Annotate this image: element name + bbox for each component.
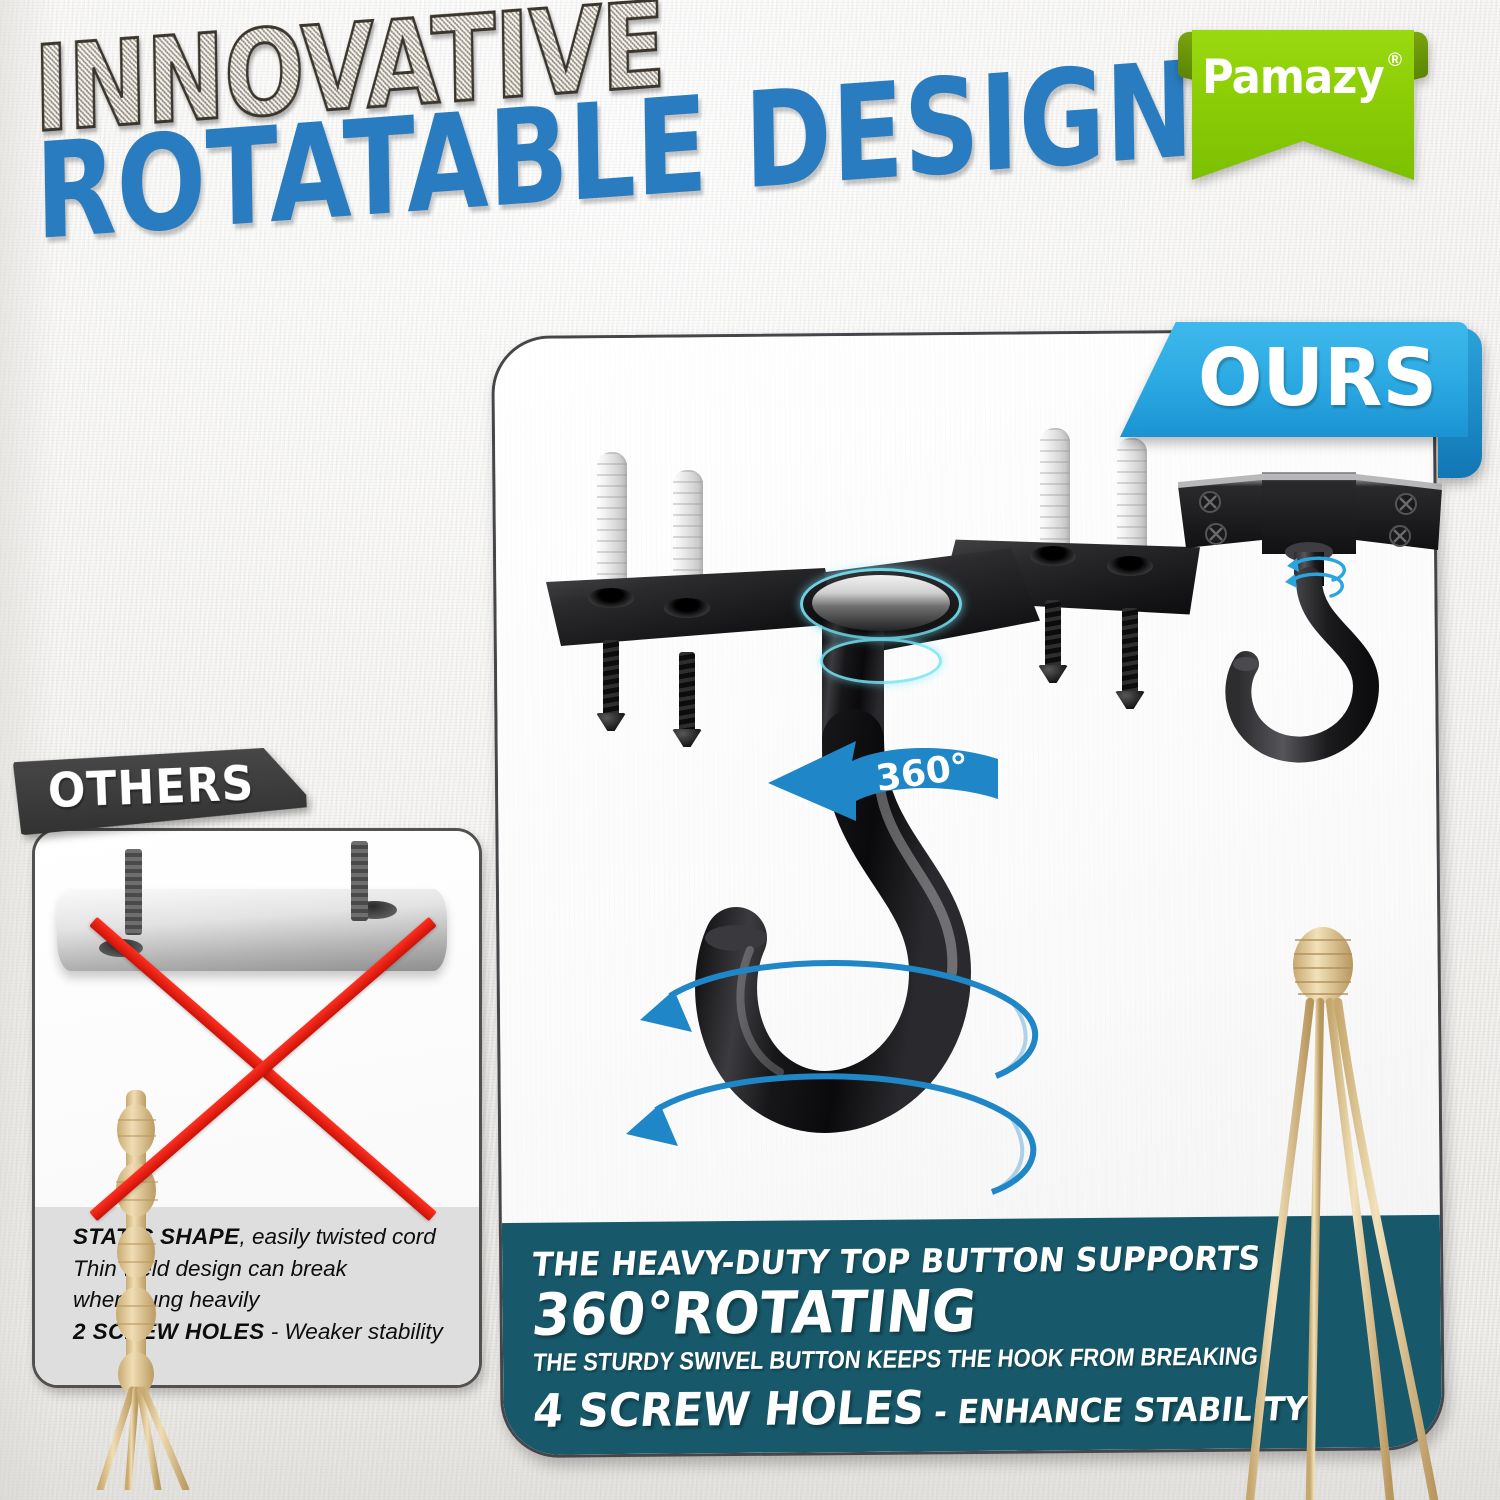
rotation-arrow-icon-360: 360° xyxy=(760,735,1000,855)
others-screw-hole-1 xyxy=(99,939,143,957)
macrame-rope-icon-right xyxy=(1210,740,1500,1500)
chrome-swivel-button xyxy=(812,575,950,631)
screw-hole-2 xyxy=(664,598,710,618)
footer-line-4-strong: 4 SCREW HOLES xyxy=(531,1381,927,1438)
screw-hole-4 xyxy=(1107,556,1153,576)
screw-hole-1 xyxy=(588,588,634,608)
rotation-arrow-icon-ellipses xyxy=(600,910,1070,1250)
others-caption-4-rest: - Weaker stability xyxy=(264,1319,442,1344)
screw-icon-4 xyxy=(1122,608,1138,696)
screw-icon-1 xyxy=(603,640,619,718)
others-badge: OTHERS xyxy=(13,746,308,835)
ours-badge-label: OURS xyxy=(1198,332,1437,424)
screw-hole-3 xyxy=(1030,546,1076,566)
wall-anchor-icon-1 xyxy=(597,452,627,592)
others-badge-label: OTHERS xyxy=(47,756,255,819)
swivel-glow-ring-bottom xyxy=(820,638,942,684)
registered-trademark-icon: ® xyxy=(1388,50,1402,72)
ours-badge: OURS xyxy=(1120,322,1500,457)
brand-logo-ribbon: Pamazy ® xyxy=(1178,30,1428,180)
brand-name: Pamazy xyxy=(1202,50,1386,105)
installed-hook-assembly xyxy=(1170,468,1460,788)
product-infographic: INNOVATIVE ROTATABLE DESIGN Pamazy ® xyxy=(0,0,1500,1500)
others-screw-right xyxy=(351,841,368,921)
rotation-arrow-icon-small xyxy=(1283,550,1353,600)
others-mount-plate xyxy=(57,889,447,971)
macrame-rope-icon-left xyxy=(82,1090,202,1490)
others-caption-1-rest: , easily twisted cord xyxy=(239,1224,435,1249)
others-screw-left xyxy=(125,849,142,935)
